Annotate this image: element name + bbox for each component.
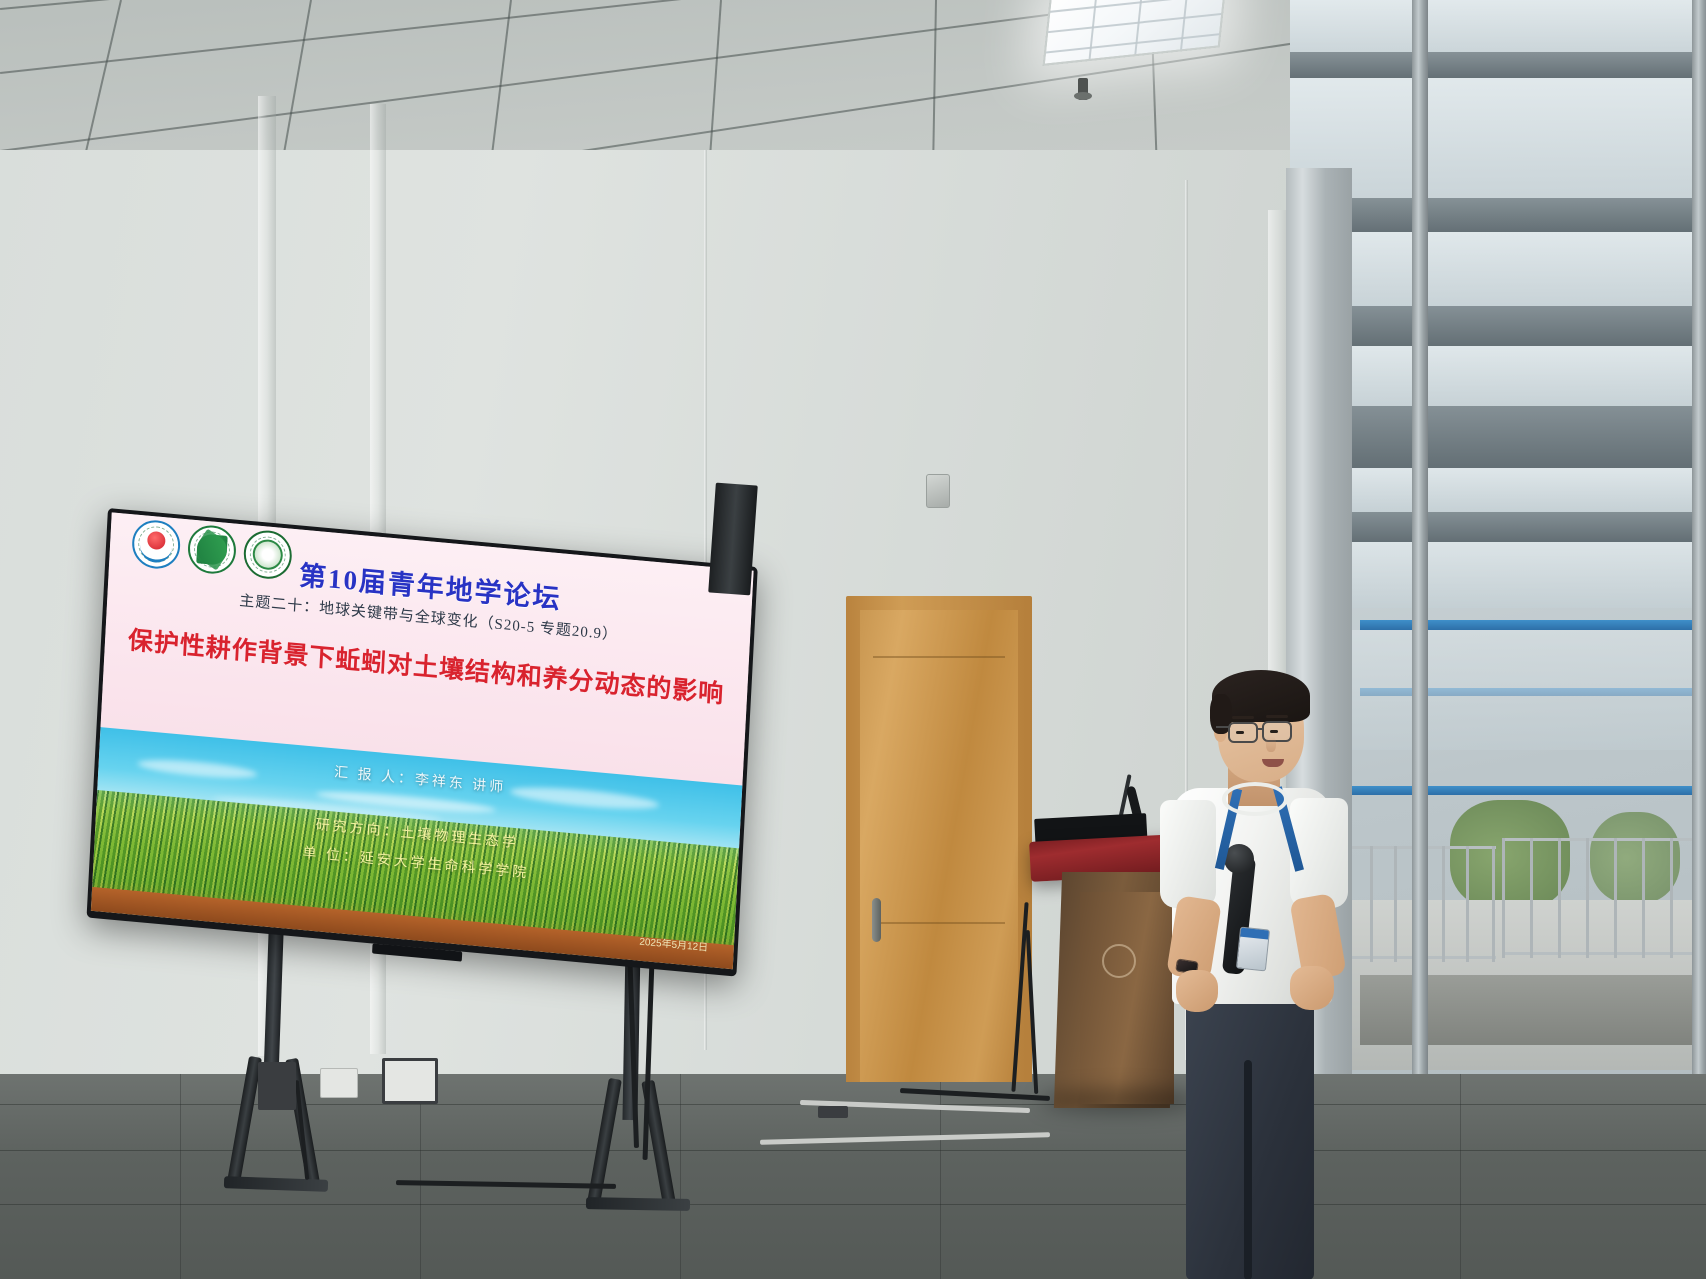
wall-plate-dark [258,1062,296,1110]
presenter-hand-left [1176,970,1218,1012]
crowd-control-barrier-2 [1502,838,1698,958]
presenter-eye-right [1270,730,1278,733]
name-badge [1236,927,1270,972]
display-screen: 第10届青年地学论坛 主题二十：地球关键带与全球变化（S20-5 专题20.9）… [91,512,754,969]
wall-outlet[interactable] [320,1068,358,1098]
presenter-collar [1222,782,1288,816]
presenter-brow-right [1266,715,1288,718]
presenter-hand-right [1290,966,1334,1010]
wall-junction-box [382,1058,438,1104]
presenter [1150,660,1390,1279]
presenter-brow-left [1232,716,1254,719]
tv-stand-foot-right [586,1197,690,1211]
presenter-leg-gap [1244,1060,1252,1279]
display-antenna-pole [708,483,758,596]
floor-adapter [818,1106,848,1118]
eyeglasses-bridge [1257,728,1264,730]
presenter-nose [1266,736,1276,752]
presentation-display[interactable]: 第10届青年地学论坛 主题二十：地球关键带与全球变化（S20-5 专题20.9）… [87,508,758,977]
wall-sensor [926,474,950,508]
door-handle[interactable] [872,898,881,942]
conference-room-photo: 第10届青年地学论坛 主题二十：地球关键带与全球变化（S20-5 专题20.9）… [0,0,1706,1279]
presenter-sleeve-left [1160,800,1216,908]
podium-emblem [1102,944,1136,978]
sprinkler-head [1078,78,1088,100]
door[interactable] [860,610,1018,1082]
presenter-eye-left [1236,731,1244,734]
eyeglasses-temple [1216,726,1230,728]
